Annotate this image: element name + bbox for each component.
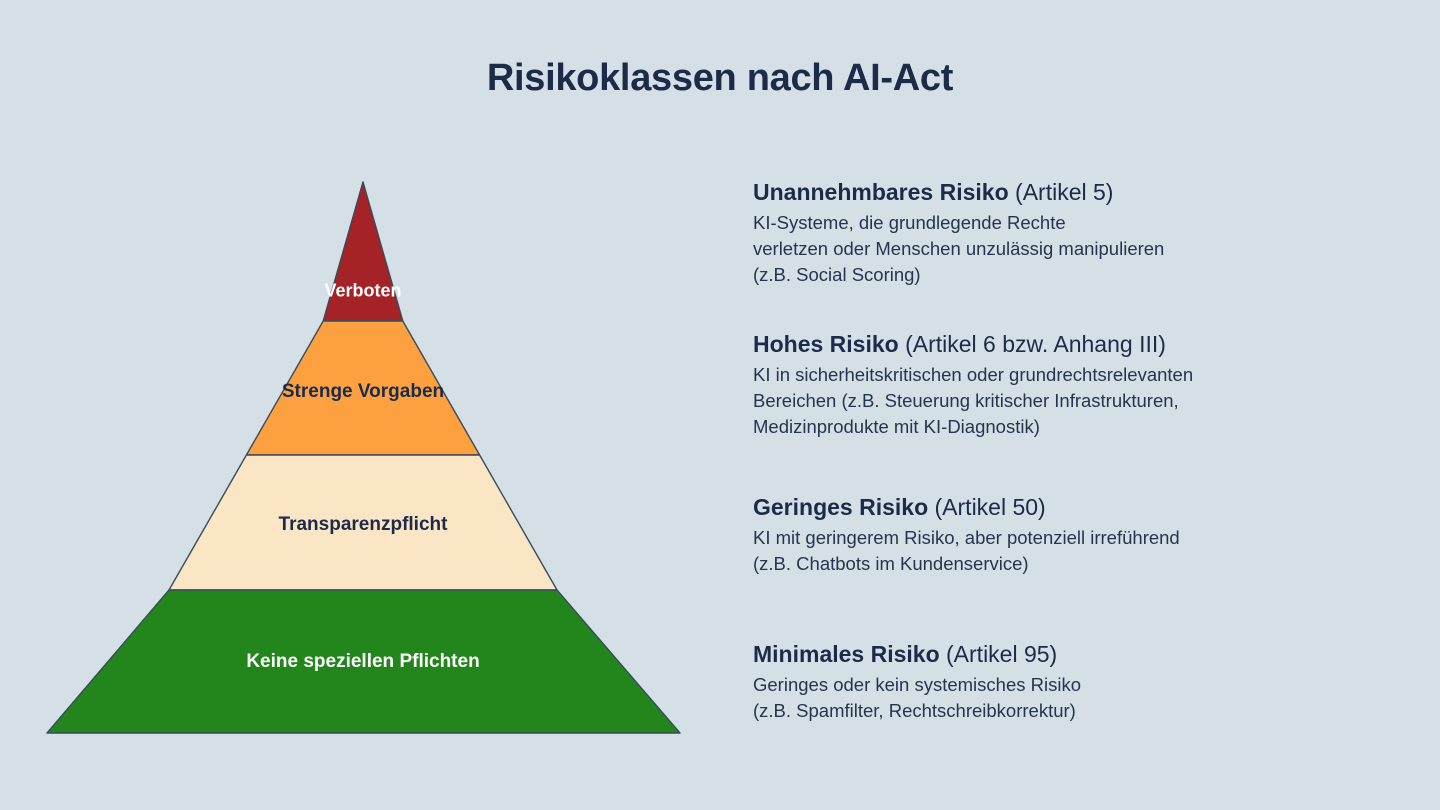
legend-line: KI in sicherheitskritischen oder grundre… — [753, 362, 1353, 388]
legend-article-limited: (Artikel 50) — [935, 494, 1046, 520]
risk-pyramid: Verboten Strenge Vorgaben Transparenzpfl… — [40, 175, 688, 741]
infographic-canvas: Risikoklassen nach AI-Act Verboten Stren… — [0, 0, 1440, 810]
pyramid-band-minimal[interactable] — [47, 590, 680, 733]
legend-heading-high: Hohes Risiko (Artikel 6 bzw. Anhang III) — [753, 330, 1353, 359]
legend-body-minimal: Geringes oder kein systemisches Risiko (… — [753, 672, 1353, 725]
legend-title-limited: Geringes Risiko — [753, 494, 928, 520]
legend-line: KI-Systeme, die grundlegende Rechte — [753, 210, 1353, 236]
pyramid-band-high[interactable] — [246, 321, 479, 455]
legend-line: Geringes oder kein systemisches Risiko — [753, 672, 1353, 698]
pyramid-band-limited[interactable] — [169, 455, 557, 590]
legend-block-high: Hohes Risiko (Artikel 6 bzw. Anhang III)… — [753, 330, 1353, 440]
page-title: Risikoklassen nach AI-Act — [0, 57, 1440, 100]
pyramid-graphic — [40, 175, 688, 741]
legend-line: (z.B. Spamfilter, Rechtschreibkorrektur) — [753, 698, 1353, 724]
legend-body-unacceptable: KI-Systeme, die grundlegende Rechte verl… — [753, 210, 1353, 289]
legend-line: Medizinprodukte mit KI-Diagnostik) — [753, 414, 1353, 440]
legend-line: Bereichen (z.B. Steuerung kritischer Inf… — [753, 388, 1353, 414]
legend-heading-minimal: Minimales Risiko (Artikel 95) — [753, 640, 1353, 669]
legend-heading-unacceptable: Unannehmbares Risiko (Artikel 5) — [753, 178, 1353, 207]
pyramid-band-prohibited[interactable] — [323, 182, 403, 321]
legend-title-high: Hohes Risiko — [753, 331, 899, 357]
legend-heading-limited: Geringes Risiko (Artikel 50) — [753, 493, 1353, 522]
legend-title-unacceptable: Unannehmbares Risiko — [753, 179, 1009, 205]
legend-block-limited: Geringes Risiko (Artikel 50) KI mit geri… — [753, 493, 1353, 577]
legend-block-minimal: Minimales Risiko (Artikel 95) Geringes o… — [753, 640, 1353, 724]
legend-line: (z.B. Social Scoring) — [753, 262, 1353, 288]
legend-article-unacceptable: (Artikel 5) — [1015, 179, 1113, 205]
legend-block-unacceptable: Unannehmbares Risiko (Artikel 5) KI-Syst… — [753, 178, 1353, 288]
legend-line: KI mit geringerem Risiko, aber potenziel… — [753, 525, 1353, 551]
legend-body-high: KI in sicherheitskritischen oder grundre… — [753, 362, 1353, 441]
legend-article-minimal: (Artikel 95) — [946, 641, 1057, 667]
legend-line: verletzen oder Menschen unzulässig manip… — [753, 236, 1353, 262]
legend-title-minimal: Minimales Risiko — [753, 641, 940, 667]
legend-line: (z.B. Chatbots im Kundenservice) — [753, 551, 1353, 577]
legend-article-high: (Artikel 6 bzw. Anhang III) — [905, 331, 1166, 357]
legend-body-limited: KI mit geringerem Risiko, aber potenziel… — [753, 525, 1353, 578]
